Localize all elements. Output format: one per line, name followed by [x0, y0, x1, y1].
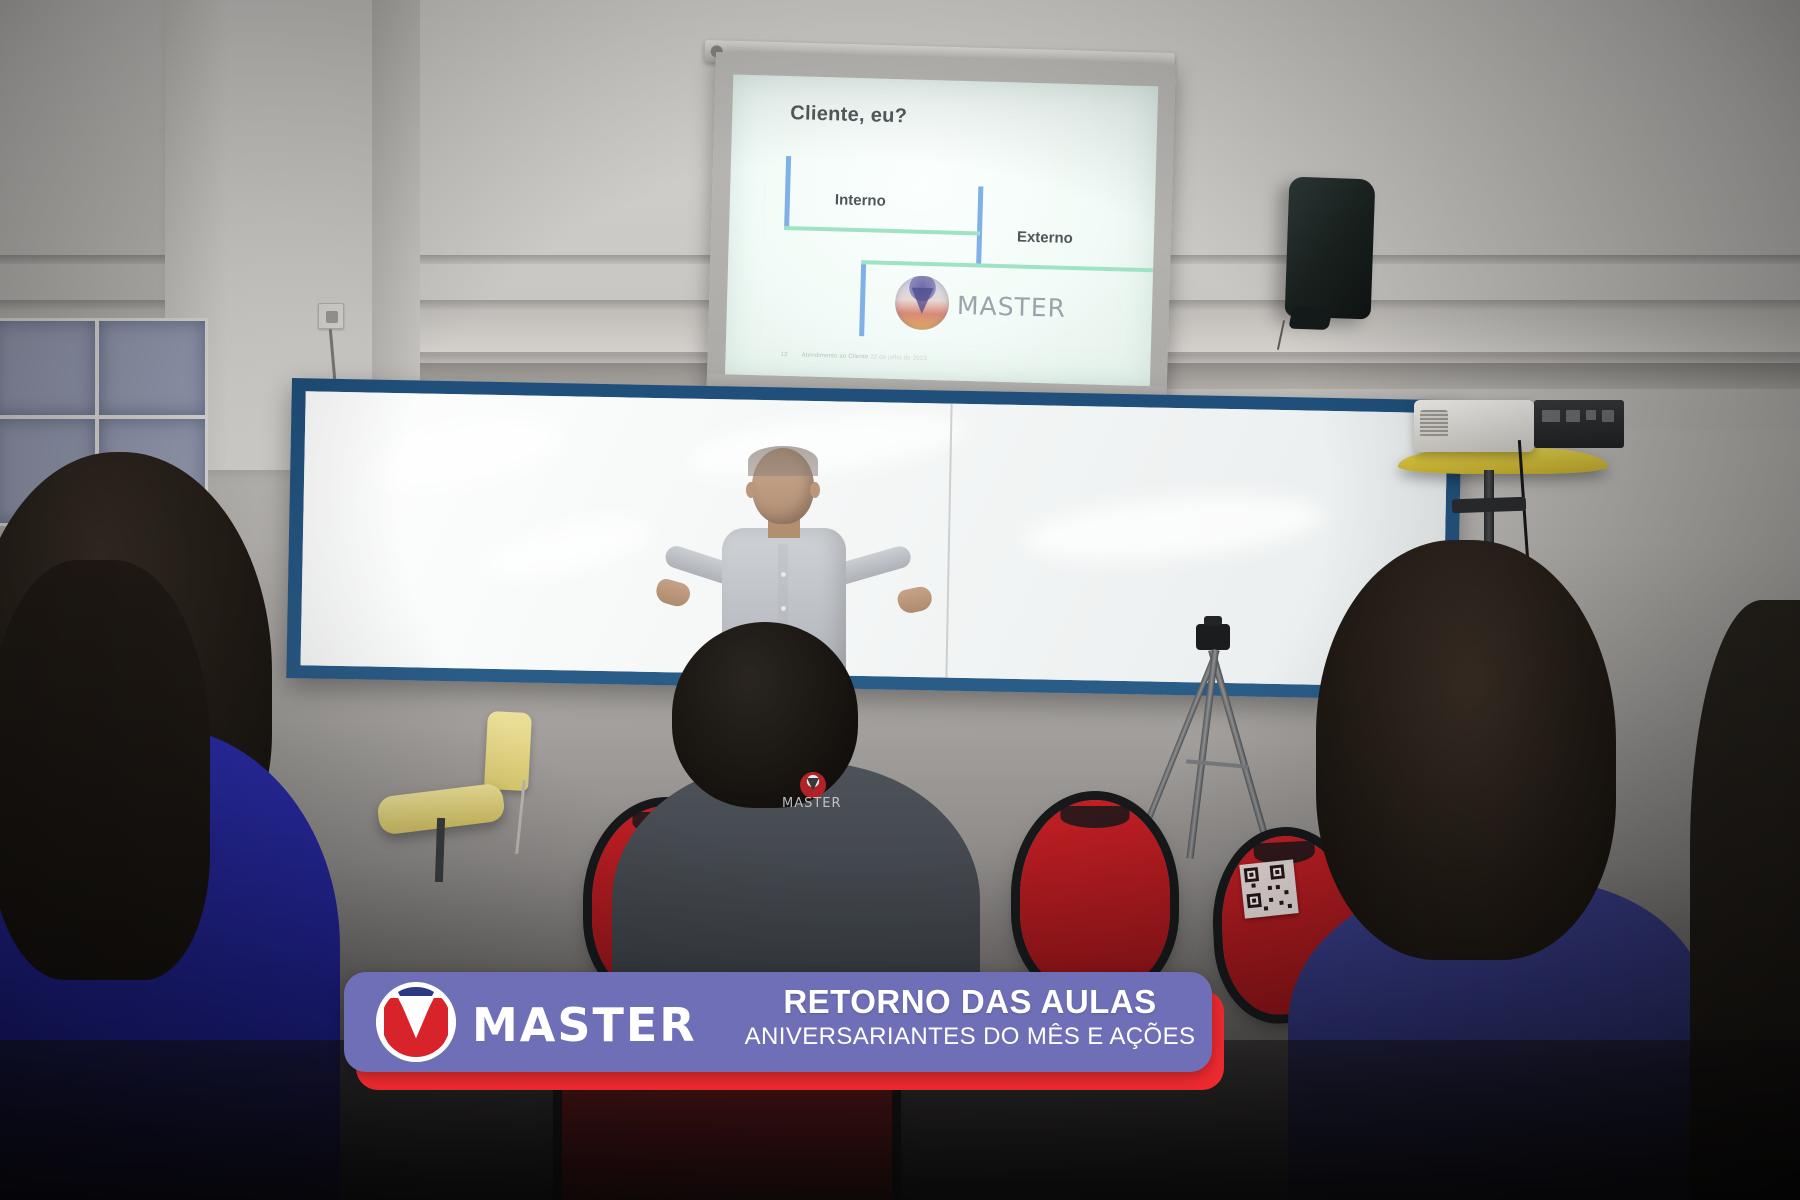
- shirt-button: [781, 606, 786, 611]
- projector-port: [1602, 410, 1614, 422]
- slide-accent-bar-left: [784, 156, 791, 228]
- qr-finder: [1244, 867, 1259, 882]
- presenter-right-hand: [896, 585, 934, 616]
- banner-body: MASTER RETORNO DAS AULAS ANIVERSARIANTES…: [344, 972, 1212, 1072]
- whiteboard-glare: [480, 508, 656, 589]
- qr-cell: [1269, 898, 1273, 902]
- slide-footer-date: 22 de julho de 2023: [870, 354, 927, 362]
- whiteboard-glare: [1021, 485, 1325, 570]
- banner-wordmark: MASTER: [472, 998, 697, 1052]
- wall-socket: [318, 303, 344, 329]
- qr-cell: [1268, 886, 1272, 890]
- camera-head: [1196, 624, 1230, 650]
- projector-port: [1586, 410, 1596, 420]
- slide-divider-lower: [861, 260, 1153, 272]
- qr-finder: [1246, 893, 1261, 908]
- projector-port-panel: [1534, 400, 1624, 448]
- whiteboard-glare: [361, 406, 568, 501]
- presenter-ear: [810, 482, 820, 498]
- slide-label-externo: Externo: [1017, 228, 1073, 247]
- projector-vent: [1420, 410, 1448, 438]
- photo-scene: Cliente, eu? Interno Externo MASTER 12At…: [0, 0, 1800, 1200]
- logo-white-ring: [376, 982, 456, 1062]
- shirt-master-logo-icon: [800, 772, 826, 798]
- presenter-ear: [746, 482, 756, 498]
- red-chair: [1020, 800, 1170, 990]
- audience-center-head: [672, 622, 858, 808]
- yellow-chair-back: [484, 711, 532, 791]
- window-pane: [0, 318, 98, 418]
- audience-left-hair-strands: [0, 560, 210, 980]
- slide-footer-page: 12: [780, 352, 787, 358]
- qr-cell: [1284, 890, 1288, 894]
- slide-title: Cliente, eu?: [790, 102, 908, 128]
- qr-finder: [1270, 864, 1285, 879]
- shirt-master-wordmark: MASTER: [782, 796, 842, 811]
- qr-cell: [1288, 904, 1292, 908]
- projector-stand-base: [1452, 497, 1526, 514]
- audience-right-hair: [1316, 540, 1616, 960]
- presenter-hair: [748, 446, 818, 476]
- banner-subtitle: ANIVERSARIANTES DO MÊS E AÇÕES: [740, 1023, 1200, 1052]
- window-pane: [96, 318, 208, 418]
- projector-port: [1566, 410, 1580, 422]
- qr-cell: [1276, 885, 1280, 889]
- slide-label-interno: Interno: [835, 191, 886, 209]
- slide-accent-bar-lower: [859, 264, 866, 336]
- slide-footer: 12Atendimento ao Cliente 22 de julho de …: [780, 352, 926, 362]
- slide-footer-text: Atendimento ao Cliente: [802, 353, 869, 361]
- chair-notch: [1061, 806, 1130, 828]
- qr-cell: [1279, 901, 1283, 905]
- banner-title: RETORNO DAS AULAS: [740, 984, 1200, 1021]
- banner-text-block: RETORNO DAS AULAS ANIVERSARIANTES DO MÊS…: [740, 984, 1200, 1052]
- wall-speaker: [1285, 177, 1376, 320]
- banner-master-logo-icon: [376, 982, 456, 1062]
- shirt-button: [781, 572, 786, 577]
- projector-port: [1542, 410, 1560, 422]
- lower-third-banner: MASTER RETORNO DAS AULAS ANIVERSARIANTES…: [344, 972, 1224, 1090]
- qr-cell: [1264, 906, 1268, 910]
- slide-master-wordmark: MASTER: [957, 291, 1067, 323]
- qr-cell: [1251, 883, 1255, 887]
- slide-master-logo-icon: [894, 275, 949, 330]
- projection-screen-surface: Cliente, eu? Interno Externo MASTER 12At…: [725, 74, 1158, 386]
- slide-accent-bar-mid: [976, 186, 983, 264]
- qr-code-sticker: [1239, 859, 1298, 918]
- slide-divider-upper: [784, 226, 980, 235]
